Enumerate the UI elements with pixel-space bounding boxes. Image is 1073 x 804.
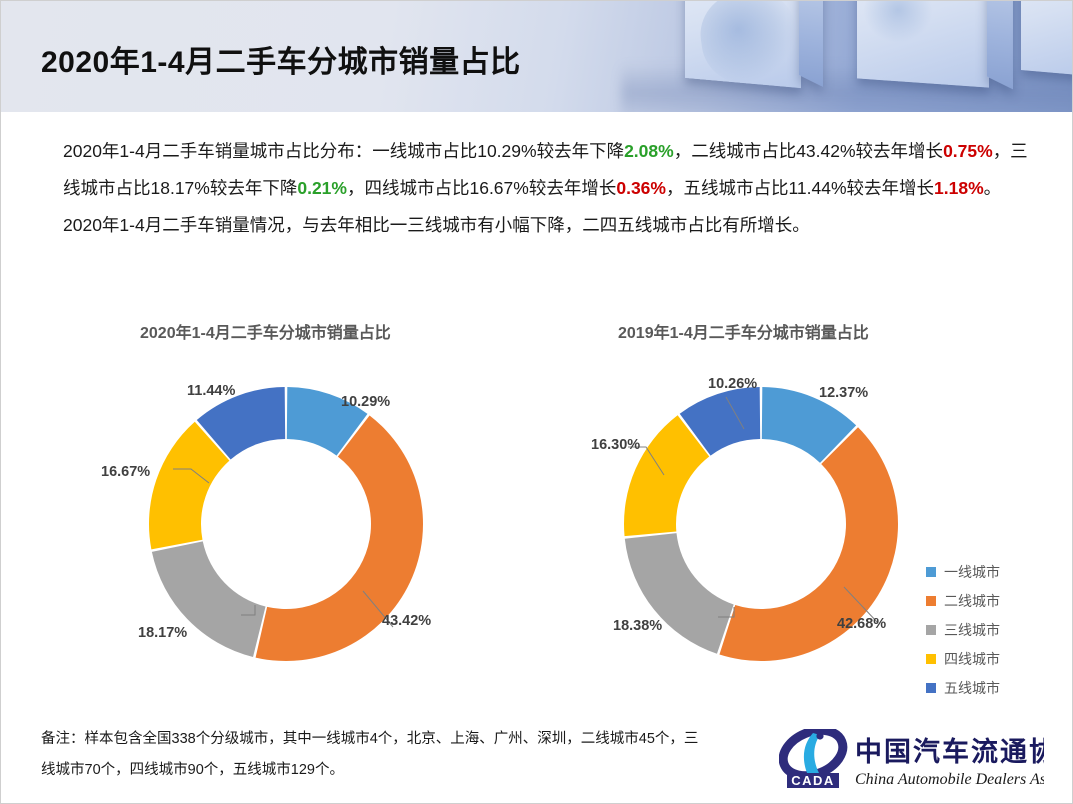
pct-label-right-tier1: 12.37% (819, 385, 868, 401)
highlight-increase-3: 0.75% (943, 141, 993, 161)
decorative-cube-1-side (799, 1, 823, 87)
pct-label-left-tier2: 43.42% (382, 613, 431, 629)
text-segment-8: ，五线城市占比11.44%较去年增长 (666, 178, 934, 198)
donut-slice-三线城市[interactable] (625, 533, 734, 654)
footnote-line-2: 线城市70个，四线城市90个，五线城市129个。 (41, 755, 731, 786)
footnote-line-1: 备注：样本包含全国338个分级城市，其中一线城市4个，北京、上海、广州、深圳，二… (41, 724, 731, 755)
logo-abbr-text: CADA (791, 773, 835, 788)
chart-title-right: 2019年1-4月二手车分城市销量占比 (618, 319, 869, 343)
legend-item-1[interactable]: 一线城市 (926, 557, 1000, 586)
legend-item-3[interactable]: 三线城市 (926, 615, 1000, 644)
legend-swatch-icon (926, 596, 936, 606)
logo-name-en: China Automobile Dealers Association (855, 771, 1044, 788)
legend-swatch-icon (926, 654, 936, 664)
cada-logo: CADA 中国汽车流通协会 China Automobile Dealers A… (779, 729, 1044, 791)
cada-logo-svg: CADA 中国汽车流通协会 China Automobile Dealers A… (779, 729, 1044, 791)
legend-item-label: 一线城市 (944, 562, 1000, 582)
pct-label-right-tier4: 16.30% (591, 437, 640, 453)
legend-swatch-icon (926, 625, 936, 635)
text-segment-2: ，二线城市占比43.42%较去年增长 (674, 141, 943, 161)
pct-label-left-tier1: 10.29% (341, 394, 390, 410)
pct-label-left-tier3: 18.17% (138, 625, 187, 641)
page-title: 2020年1-4月二手车分城市销量占比 (41, 37, 521, 81)
text-segment-10: 。 (984, 178, 1002, 198)
pct-label-left-tier4: 16.67% (101, 464, 150, 480)
text-segment-6: ，四线城市占比16.67%较去年增长 (347, 178, 616, 198)
highlight-increase-9: 1.18% (934, 178, 984, 198)
legend-item-label: 四线城市 (944, 649, 1000, 669)
summary-text-block: 2020年1-4月二手车销量城市占比分布：一线城市占比10.29%较去年下降2.… (63, 133, 1038, 244)
slide-header: 2020年1-4月二手车分城市销量占比 (1, 1, 1073, 112)
chart-legend: 一线城市二线城市三线城市四线城市五线城市 (926, 557, 1000, 702)
legend-item-label: 五线城市 (944, 678, 1000, 698)
logo-dot-icon (816, 732, 823, 739)
legend-item-4[interactable]: 四线城市 (926, 644, 1000, 673)
pct-label-right-tier2: 42.68% (837, 616, 886, 632)
legend-item-2[interactable]: 二线城市 (926, 586, 1000, 615)
legend-swatch-icon (926, 683, 936, 693)
legend-item-label: 二线城市 (944, 591, 1000, 611)
chart-title-left: 2020年1-4月二手车分城市销量占比 (140, 319, 391, 343)
pct-label-right-tier5: 10.26% (708, 376, 757, 392)
pct-label-right-tier3: 18.38% (613, 618, 662, 634)
decorative-cube-3 (1021, 1, 1073, 76)
legend-item-label: 三线城市 (944, 620, 1000, 640)
pct-label-left-tier5: 11.44% (187, 383, 235, 399)
slide-canvas: 2020年1-4月二手车分城市销量占比 2020年1-4月二手车销量城市占比分布… (0, 0, 1073, 804)
highlight-increase-7: 0.36% (616, 178, 666, 198)
text-segment-0: 2020年1-4月二手车销量城市占比分布：一线城市占比10.29%较去年下降 (63, 141, 624, 161)
highlight-decrease-1: 2.08% (624, 141, 674, 161)
legend-swatch-icon (926, 567, 936, 577)
logo-swoosh-icon (804, 733, 820, 773)
summary-paragraph-1: 2020年1-4月二手车销量城市占比分布：一线城市占比10.29%较去年下降2.… (63, 133, 1038, 207)
logo-name-cn: 中国汽车流通协会 (855, 736, 1044, 767)
decorative-cube-2-side (987, 1, 1013, 89)
highlight-decrease-5: 0.21% (297, 178, 347, 198)
legend-item-5[interactable]: 五线城市 (926, 673, 1000, 702)
summary-paragraph-2: 2020年1-4月二手车销量情况，与去年相比一三线城市有小幅下降，二四五线城市占… (63, 207, 1038, 244)
footnote-block: 备注：样本包含全国338个分级城市，其中一线城市4个，北京、上海、广州、深圳，二… (41, 724, 731, 786)
